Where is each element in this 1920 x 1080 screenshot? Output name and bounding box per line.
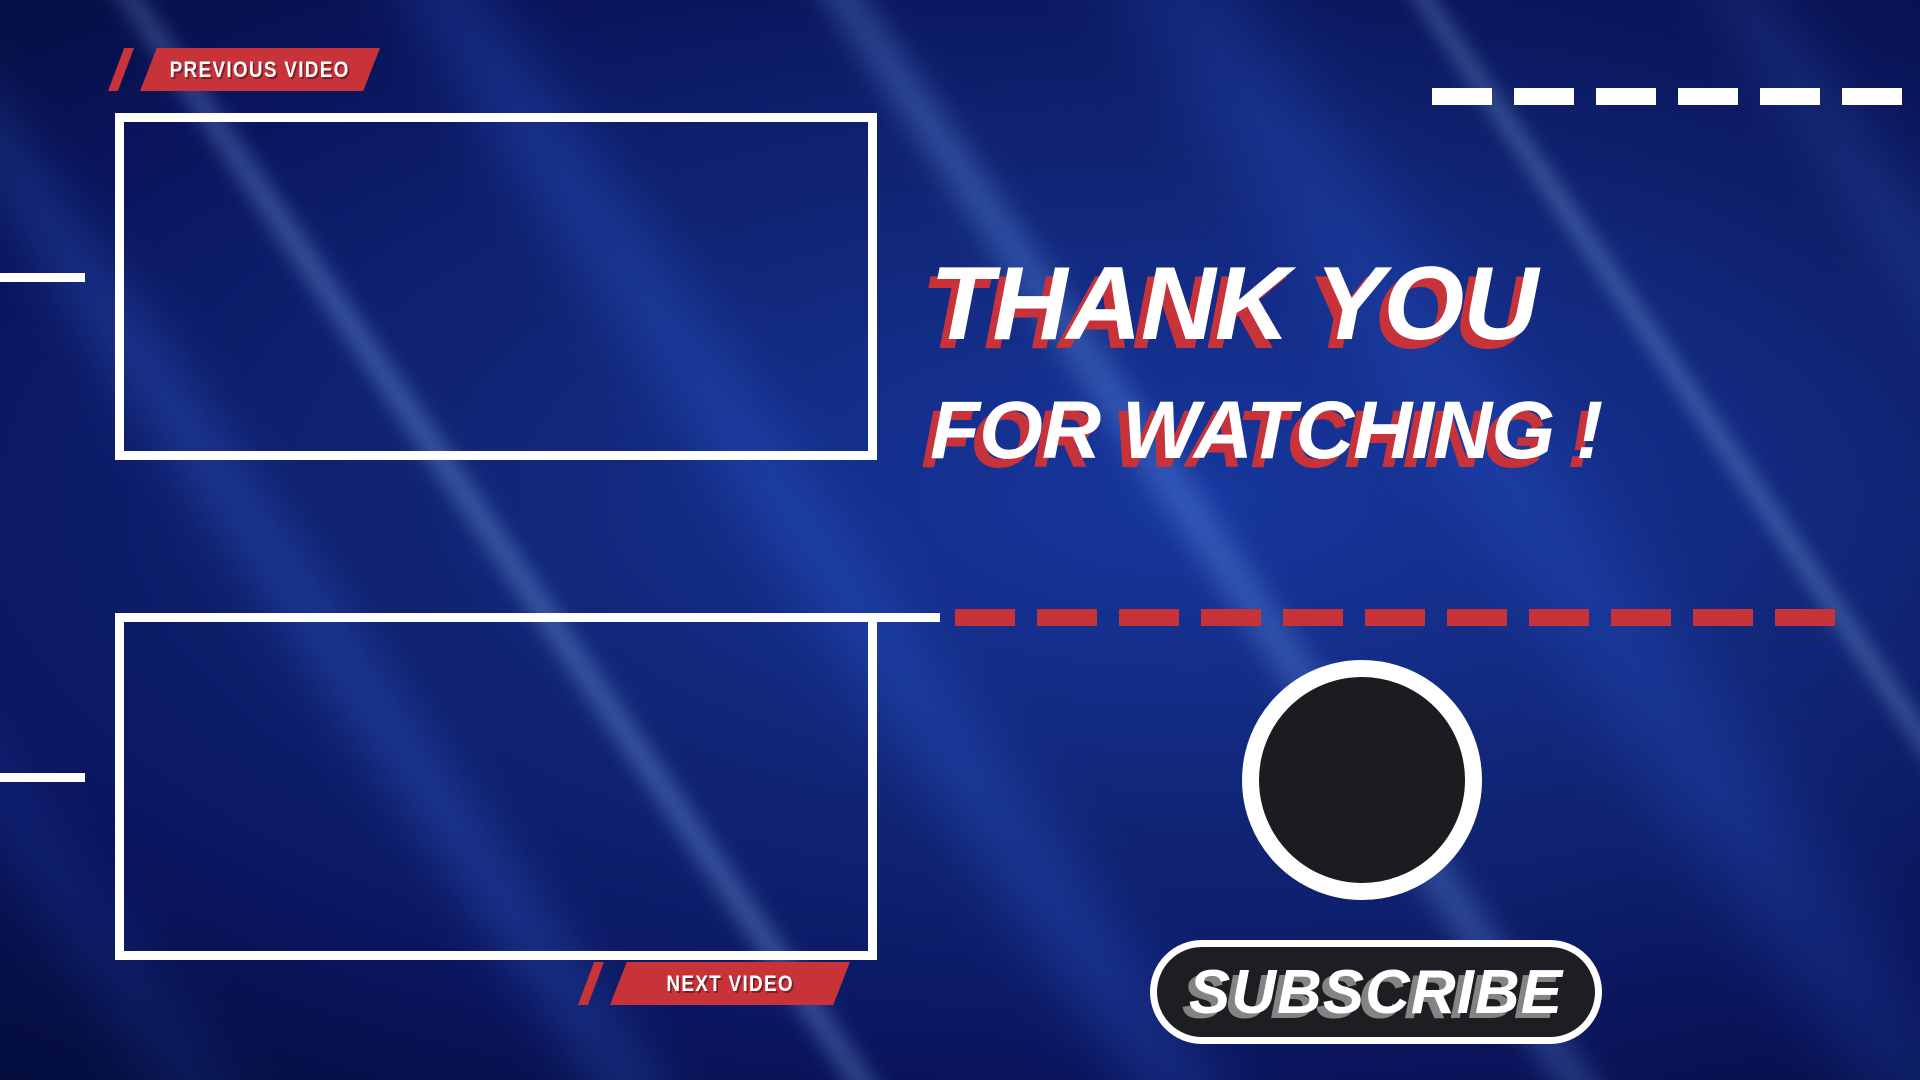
dash-segment [1842, 88, 1902, 105]
headline-block: THANK YOU FOR WATCHING ! [930, 252, 1850, 472]
previous-video-slot[interactable] [115, 113, 877, 460]
next-video-edge-tick [0, 773, 85, 782]
channel-avatar[interactable] [1242, 660, 1482, 900]
middle-right-dashed-rule [955, 609, 1857, 626]
next-video-badge[interactable]: NEXT VIDEO [610, 962, 850, 1005]
subscribe-button[interactable]: SUBSCRIBE [1150, 940, 1602, 1044]
dash-segment [1201, 609, 1261, 626]
headline-line-2: FOR WATCHING ! [930, 390, 1850, 472]
dash-segment [1760, 88, 1820, 105]
headline-line-1: THANK YOU [930, 252, 1850, 356]
previous-video-badge[interactable]: PREVIOUS VIDEO [140, 48, 380, 91]
dash-segment [1447, 609, 1507, 626]
dash-segment [1678, 88, 1738, 105]
dash-segment [1775, 609, 1835, 626]
dash-segment [1037, 609, 1097, 626]
dash-segment [955, 609, 1015, 626]
next-video-bridge-bar [870, 613, 940, 622]
dash-segment [1514, 88, 1574, 105]
dash-segment [1432, 88, 1492, 105]
previous-video-badge-label: PREVIOUS VIDEO [170, 57, 350, 83]
dash-segment [1611, 609, 1671, 626]
dash-segment [1365, 609, 1425, 626]
dash-segment [1596, 88, 1656, 105]
dash-segment [1283, 609, 1343, 626]
next-video-badge-label: NEXT VIDEO [666, 971, 793, 997]
dash-segment [1693, 609, 1753, 626]
end-screen-canvas: PREVIOUS VIDEO NEXT VIDEO THANK YOU FOR … [0, 0, 1920, 1080]
dash-segment [1119, 609, 1179, 626]
previous-video-edge-tick [0, 273, 85, 282]
top-right-dashed-rule [1432, 88, 1920, 105]
next-video-slot[interactable] [115, 613, 877, 960]
subscribe-button-label: SUBSCRIBE [1189, 957, 1563, 1028]
dash-segment [1529, 609, 1589, 626]
